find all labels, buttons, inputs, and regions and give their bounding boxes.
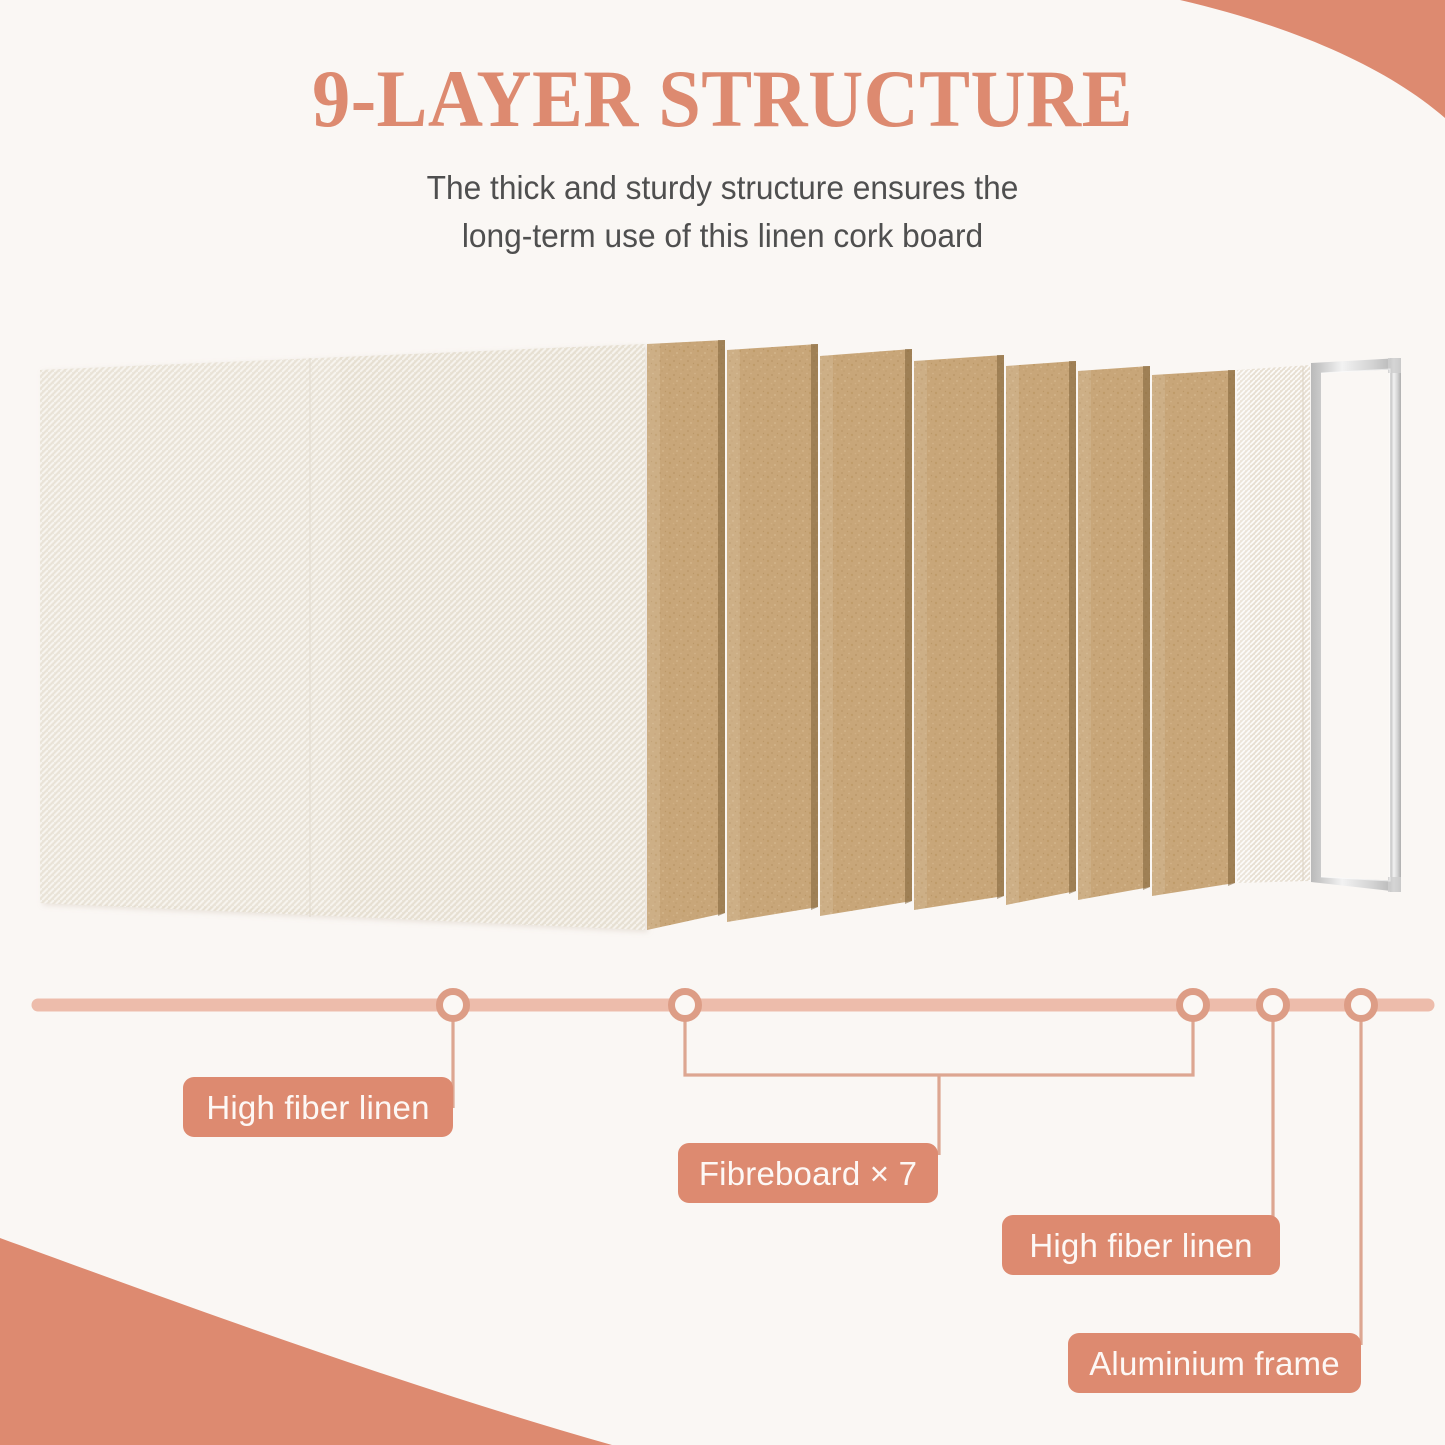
layer-fibreboard-1 — [647, 340, 725, 930]
layer-linen-back — [1237, 365, 1310, 883]
layer-fibreboard-5 — [1006, 361, 1076, 905]
layer-fibreboard-2 — [727, 344, 818, 922]
header-block: 9-LAYER STRUCTURE The thick and sturdy s… — [0, 58, 1445, 260]
layer-fibreboard-4 — [914, 355, 1004, 910]
callout-badge-fibreboard: Fibreboard × 7 — [678, 1143, 938, 1203]
layer-group-fibreboard — [647, 340, 1235, 930]
layer-stack-illustration — [0, 330, 1445, 950]
page-subtitle: The thick and sturdy structure ensures t… — [29, 164, 1416, 260]
layer-aluminium-frame — [1311, 358, 1401, 892]
marker-dot-linen-right — [1260, 992, 1287, 1019]
callout-badge-aluminium-frame: Aluminium frame — [1068, 1333, 1361, 1393]
marker-dot-fibreboard-end — [1180, 992, 1207, 1019]
marker-dot-fibreboard-start — [672, 992, 699, 1019]
layer-linen-front — [40, 344, 645, 930]
layer-fibreboard-3 — [820, 349, 912, 916]
page-title: 9-LAYER STRUCTURE — [51, 58, 1395, 140]
subtitle-line-2: long-term use of this linen cork board — [462, 217, 983, 254]
subtitle-line-1: The thick and sturdy structure ensures t… — [427, 169, 1019, 206]
layer-fibreboard-7 — [1152, 370, 1235, 896]
callout-badge-high-fiber-linen-right: High fiber linen — [1002, 1215, 1280, 1275]
leader-fibreboard-bracket — [685, 1005, 1193, 1075]
callout-badge-high-fiber-linen-left: High fiber linen — [183, 1077, 453, 1137]
infographic-canvas: 9-LAYER STRUCTURE The thick and sturdy s… — [0, 0, 1445, 1445]
marker-dot-aluminium-frame — [1348, 992, 1375, 1019]
marker-dot-linen-left — [440, 992, 467, 1019]
layer-fibreboard-6 — [1078, 366, 1150, 900]
